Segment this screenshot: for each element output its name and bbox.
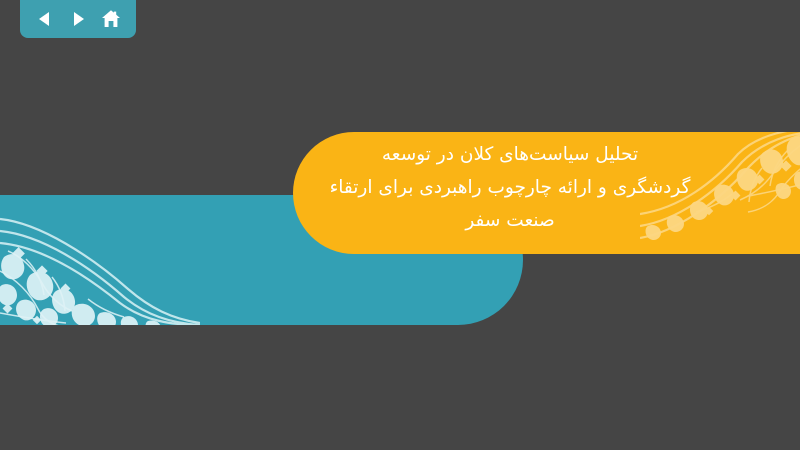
- slide-title: تحلیل سیاست‌های کلان در توسعه گردشگری و …: [300, 138, 720, 237]
- triangle-right-icon: [69, 10, 87, 28]
- home-button[interactable]: [98, 6, 124, 32]
- previous-slide-button[interactable]: [32, 6, 58, 32]
- title-line-1: تحلیل سیاست‌های کلان در توسعه: [300, 138, 720, 171]
- arabesque-ornament-icon: [0, 205, 200, 325]
- title-line-3: صنعت سفر: [300, 204, 720, 237]
- triangle-left-icon: [36, 10, 54, 28]
- next-slide-button[interactable]: [65, 6, 91, 32]
- presentation-slide: تحلیل سیاست‌های کلان در توسعه گردشگری و …: [0, 0, 800, 450]
- title-line-2: گردشگری و ارائه چارچوب راهبردی برای ارتق…: [300, 171, 720, 204]
- slide-navigation-bar: [20, 0, 136, 38]
- home-icon: [100, 8, 122, 30]
